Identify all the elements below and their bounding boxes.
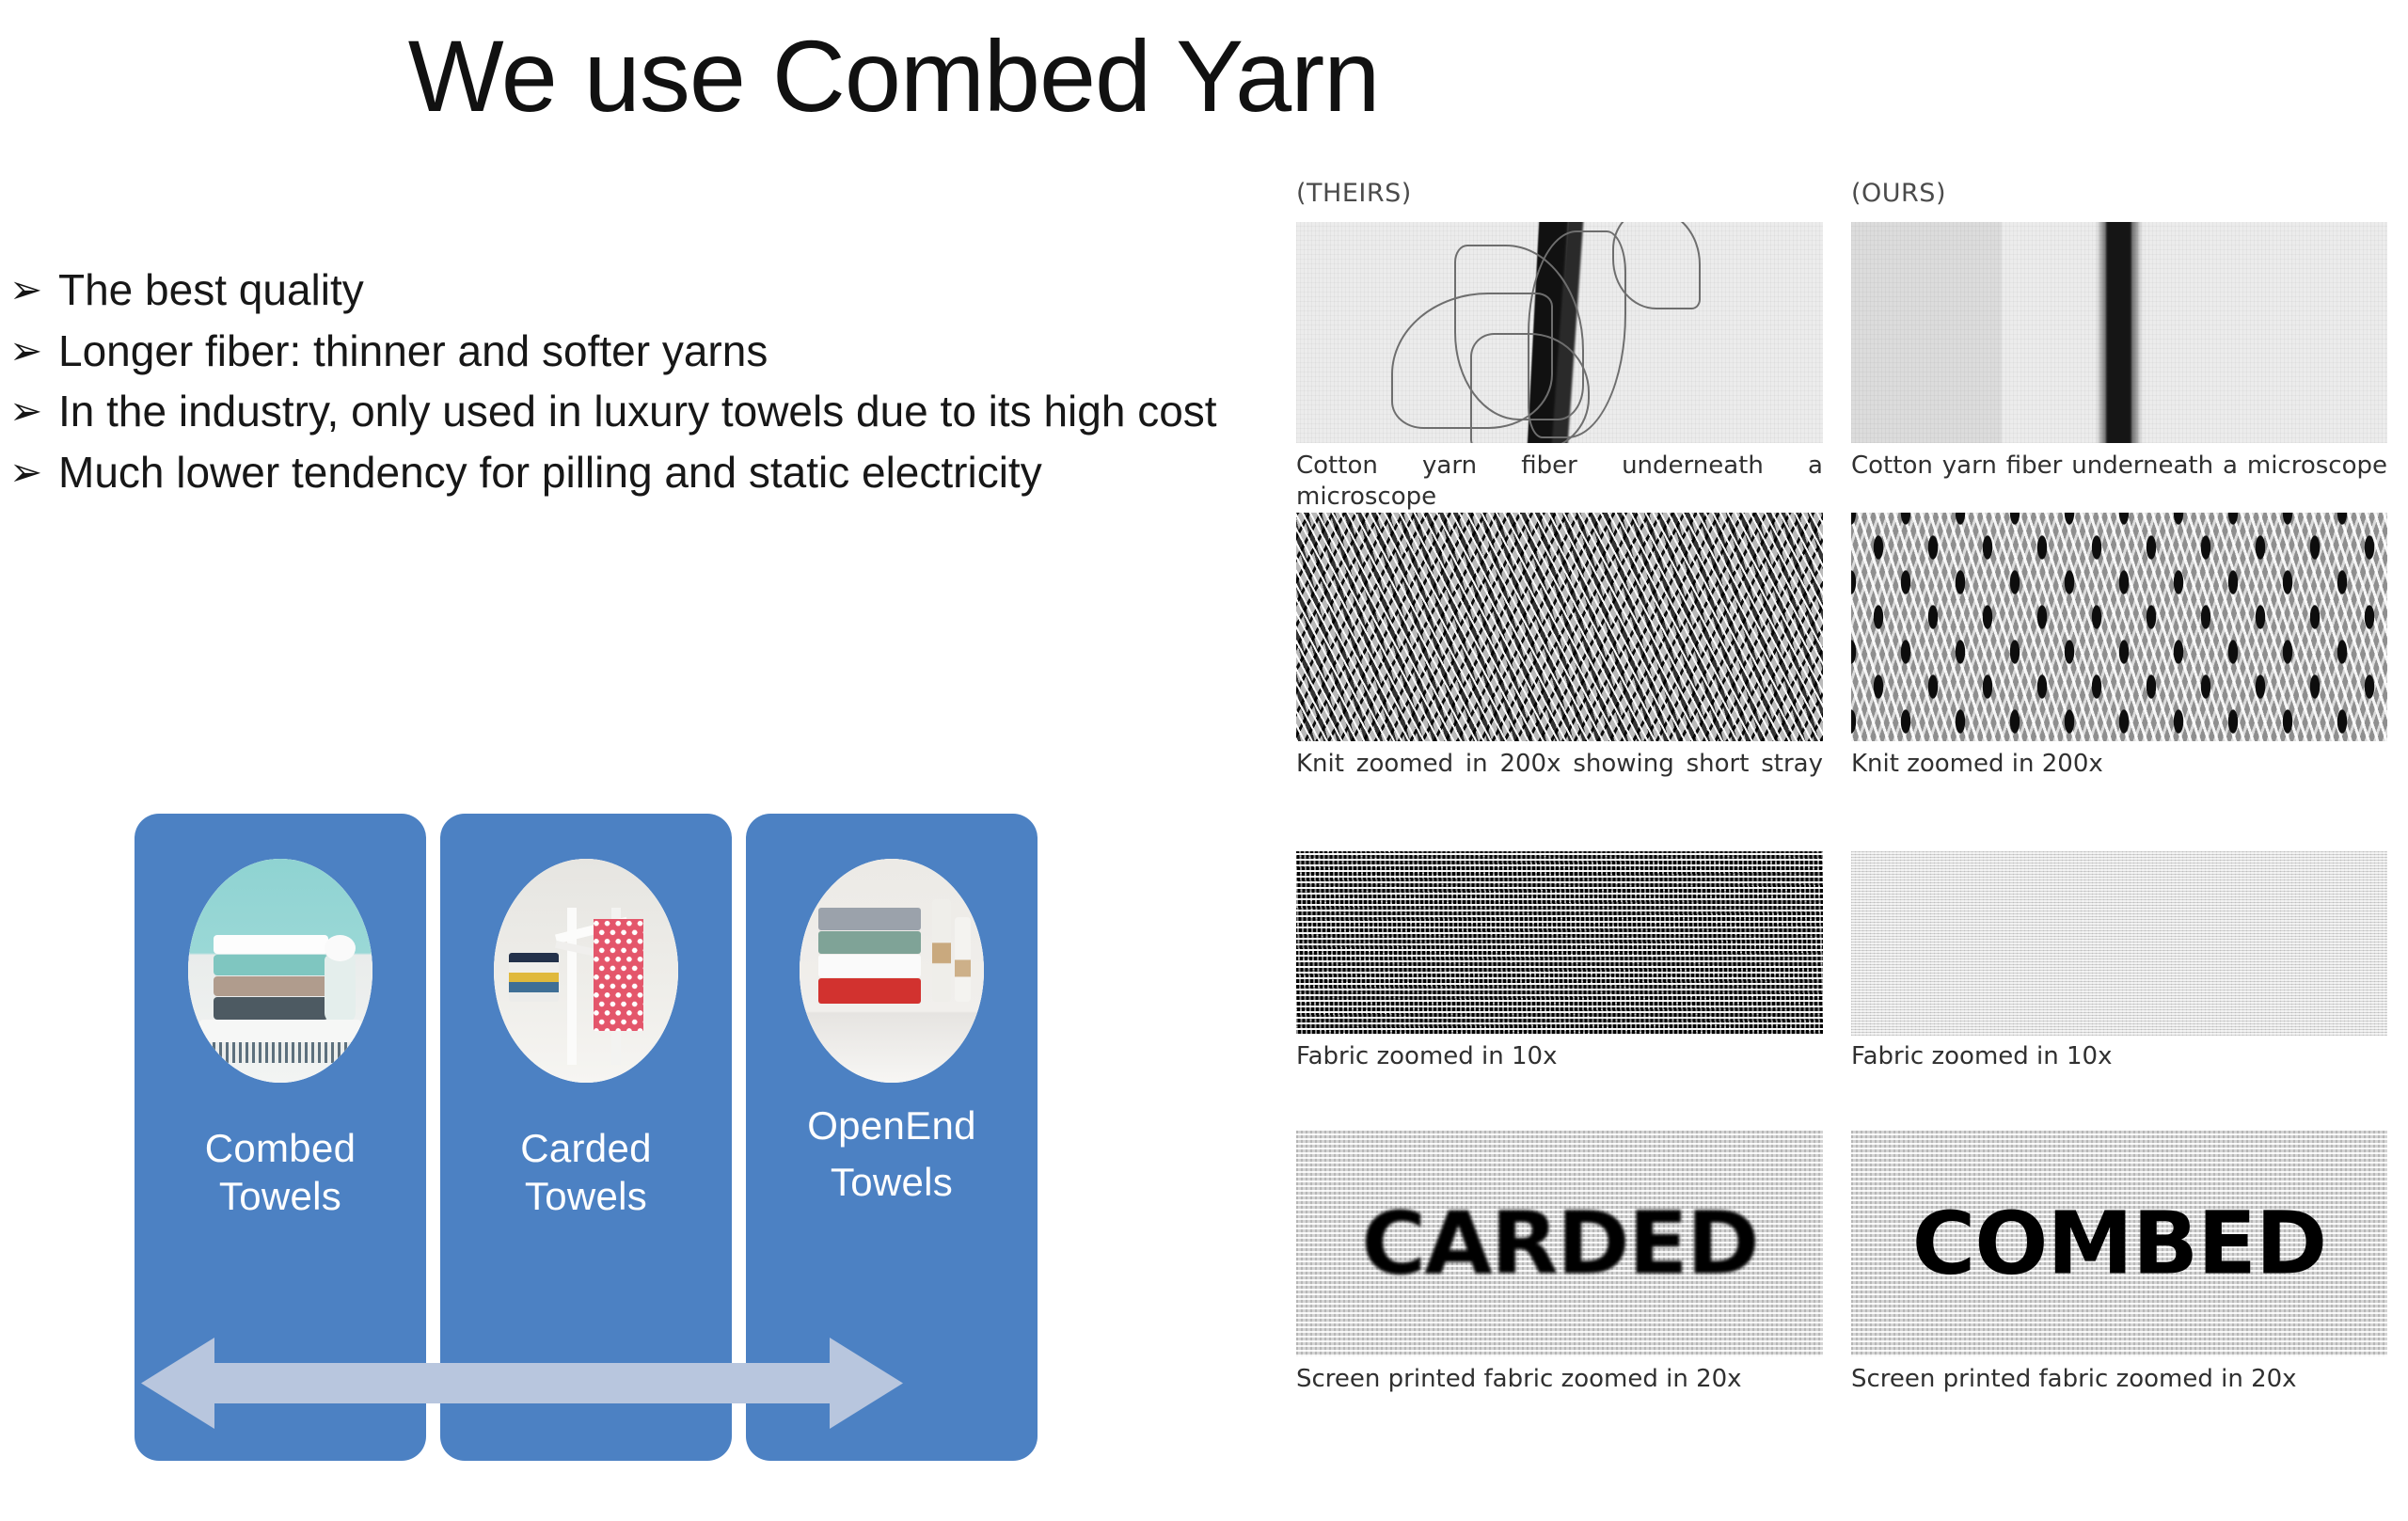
caption-ours-screenprint: Screen printed fabric zoomed in 20x [1851,1364,2387,1395]
combed-knit-200x-uniform [1851,513,2387,741]
cell-theirs-fabric: Fabric zoomed in 10x [1296,851,1823,1105]
arrow-bullet-icon: ➢ [9,261,58,318]
bullet-text: The best quality [58,261,1242,319]
column-heading-theirs: (THEIRS) [1296,179,1412,208]
arrow-bullet-icon: ➢ [9,323,58,379]
page-title: We use Combed Yarn [0,21,1787,133]
carded-fabric-10x-rough [1296,851,1823,1036]
caption-theirs-knit: Knit zoomed in 200x showing short stray [1296,749,1823,780]
cell-ours-fabric: Fabric zoomed in 10x [1851,851,2387,1105]
quality-scale-double-arrow [141,1334,903,1433]
card-label-line1: Carded [440,1124,732,1172]
cell-theirs-screenprint: CARDED Screen printed fabric zoomed in 2… [1296,1131,1823,1413]
card-label-openend: OpenEnd Towels [746,1098,1038,1210]
bullet-text: Much lower tendency for pilling and stat… [58,444,1242,501]
card-label-carded: Carded Towels [440,1124,732,1220]
caption-ours-fabric: Fabric zoomed in 10x [1851,1041,2387,1072]
cell-theirs-micrograph: Cotton yarn fiber underneath a microscop… [1296,222,1823,495]
list-item: ➢ Much lower tendency for pilling and st… [9,444,1242,501]
caption-ours-knit: Knit zoomed in 200x [1851,749,2387,780]
bullet-text: In the industry, only used in luxury tow… [58,383,1242,440]
card-label-line2: Towels [135,1172,426,1220]
caption-theirs-screenprint: Screen printed fabric zoomed in 20x [1296,1364,1823,1395]
arrow-bullet-icon: ➢ [9,383,58,439]
cell-ours-screenprint: COMBED Screen printed fabric zoomed in 2… [1851,1131,2387,1413]
cell-ours-knit: Knit zoomed in 200x [1851,513,2387,795]
caption-theirs-fabric: Fabric zoomed in 10x [1296,1041,1823,1072]
card-label-line1: OpenEnd [746,1098,1038,1154]
arrow-bullet-icon: ➢ [9,444,58,500]
carded-screen-print-20x: CARDED [1296,1131,1823,1356]
card-label-line2: Towels [440,1172,732,1220]
column-heading-ours: (OURS) [1851,179,1946,208]
combed-screen-print-20x: COMBED [1851,1131,2387,1356]
carded-knit-200x-fuzzy [1296,513,1823,741]
card-label-line2: Towels [746,1154,1038,1211]
cell-ours-micrograph: Cotton yarn fiber underneath a microscop… [1851,222,2387,495]
combed-fabric-10x-smooth [1851,851,2387,1036]
theirs-vs-ours-comparison: (THEIRS) (OURS) Cotton yarn fiber undern… [1296,179,2387,1514]
caption-theirs-micrograph: Cotton yarn fiber underneath a microscop… [1296,451,1823,514]
feature-bullet-list: ➢ The best quality ➢ Longer fiber: thinn… [9,261,1242,505]
towel-rack-red-photo [494,859,678,1083]
card-label-combed: Combed Towels [135,1124,426,1220]
list-item: ➢ Longer fiber: thinner and softer yarns [9,323,1242,380]
stacked-towels-teal-photo [188,859,372,1083]
bullet-text: Longer fiber: thinner and softer yarns [58,323,1242,380]
list-item: ➢ The best quality [9,261,1242,319]
cell-theirs-knit: Knit zoomed in 200x showing short stray [1296,513,1823,795]
list-item: ➢ In the industry, only used in luxury t… [9,383,1242,440]
stacked-towels-marble-photo [800,859,984,1083]
print-word-combed: COMBED [1851,1194,2387,1294]
print-word-carded: CARDED [1296,1194,1823,1294]
combed-yarn-micrograph-clean [1851,222,2387,443]
caption-ours-micrograph: Cotton yarn fiber underneath a microscop… [1851,451,2387,482]
carded-yarn-micrograph-stray-fibers [1296,222,1823,443]
card-label-line1: Combed [135,1124,426,1172]
